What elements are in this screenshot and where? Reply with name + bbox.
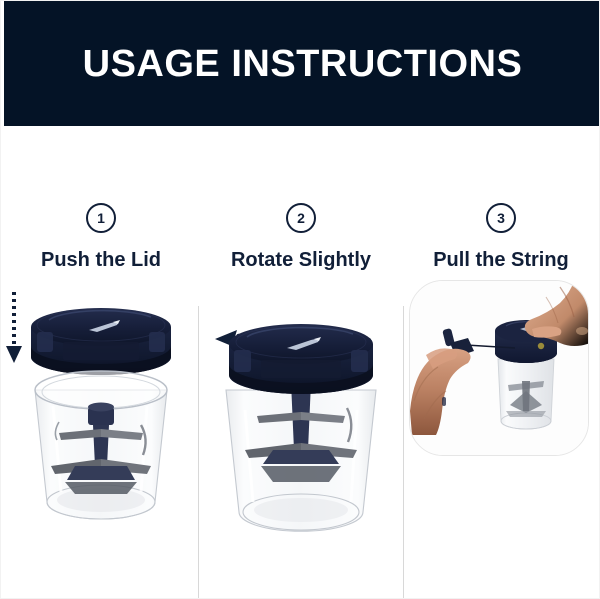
- step-illustration-3: [401, 270, 600, 599]
- step-title-3: Pull the String: [433, 250, 569, 270]
- step-illustration-1: [1, 270, 201, 599]
- steps-row: 1 Push the Lid: [1, 126, 600, 599]
- lid-assembly-graphic: [31, 308, 171, 375]
- usage-instructions-page: USAGE INSTRUCTIONS 1 Push the Lid: [0, 0, 600, 599]
- step-illustration-2: [201, 270, 401, 599]
- assembled-chopper-graphic: [201, 270, 401, 570]
- chopper-jar-photo-element: [498, 359, 554, 429]
- step-number-2: 2: [297, 211, 305, 225]
- hands-pulling-string-photo: [410, 281, 589, 456]
- lid-above-bowl-graphic: [1, 270, 201, 570]
- step-panel-2: 2 Rotate Slightly: [201, 126, 401, 599]
- step-title-1: Push the Lid: [41, 250, 161, 270]
- photo-frame: [409, 280, 589, 456]
- chopper-body-graphic: [226, 324, 376, 531]
- step-number-badge-2: 2: [286, 203, 316, 233]
- step-panel-1: 1 Push the Lid: [1, 126, 201, 599]
- step-number-1: 1: [97, 211, 105, 225]
- step-number-badge-1: 1: [86, 203, 116, 233]
- page-title: USAGE INSTRUCTIONS: [83, 45, 523, 83]
- step-number-3: 3: [497, 211, 505, 225]
- lid-assembly-graphic: [229, 324, 373, 394]
- step-number-badge-3: 3: [486, 203, 516, 233]
- bowl-graphic: [35, 371, 167, 519]
- step-panel-3: 3 Pull the String: [401, 126, 600, 599]
- header-banner: USAGE INSTRUCTIONS: [4, 1, 600, 126]
- dashed-down-arrow-icon: [6, 292, 22, 363]
- step-title-2: Rotate Slightly: [231, 250, 371, 270]
